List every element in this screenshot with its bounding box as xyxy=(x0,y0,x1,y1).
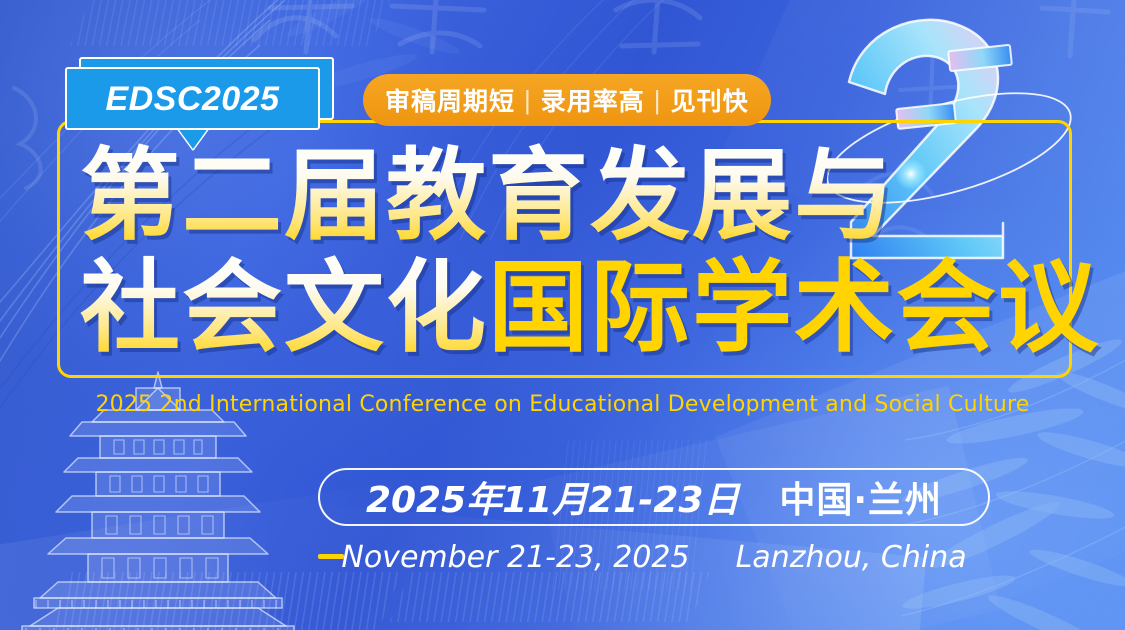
highlight-item-2: 录用率高 xyxy=(541,82,645,118)
hatch-pattern-3 xyxy=(70,0,390,46)
conference-banner: EDSC2025 审稿周期短 | 录用率高 | 见刊快 第二届教育发展与 社会文… xyxy=(0,0,1125,630)
title-line-1: 第二届教育发展与 xyxy=(80,140,1080,252)
date-location-en: November 21-23, 2025 Lanzhou, China xyxy=(318,534,990,580)
title-line-2-solid-text: 国际学术会议 xyxy=(488,249,1100,366)
title-line-2-gradient-text: 社会文化 xyxy=(80,249,488,366)
badge-label: EDSC2025 xyxy=(105,82,279,116)
badge-front-layer: EDSC2025 xyxy=(65,67,320,130)
title-line-1-text: 第二届教育发展与 xyxy=(80,137,896,254)
location-cn: 中国·兰州 xyxy=(779,471,942,523)
highlight-item-3: 见刊快 xyxy=(671,82,749,118)
highlight-separator-1: | xyxy=(524,85,532,116)
calligraphy-mark-3 xyxy=(600,0,720,60)
dash-icon xyxy=(318,554,344,559)
date-cn: 2025年11月21-23日 xyxy=(366,471,739,523)
conference-subtitle-en: 2025 2nd International Conference on Edu… xyxy=(0,392,1125,417)
title-line-2: 社会文化国际学术会议 xyxy=(80,252,1080,364)
highlight-item-1: 审稿周期短 xyxy=(385,82,515,118)
date-en: November 21-23, 2025 xyxy=(341,540,689,575)
date-location-box: 2025年11月21-23日 中国·兰州 xyxy=(318,468,990,526)
calligraphy-mark-2 xyxy=(380,0,500,58)
conference-title: 第二届教育发展与 社会文化国际学术会议 xyxy=(80,140,1080,364)
highlights-pill: 审稿周期短 | 录用率高 | 见刊快 xyxy=(363,74,771,126)
calligraphy-mark-1 xyxy=(240,0,380,62)
hatch-pattern-1 xyxy=(48,572,401,630)
highlight-separator-2: | xyxy=(654,85,662,116)
location-en: Lanzhou, China xyxy=(736,540,967,575)
